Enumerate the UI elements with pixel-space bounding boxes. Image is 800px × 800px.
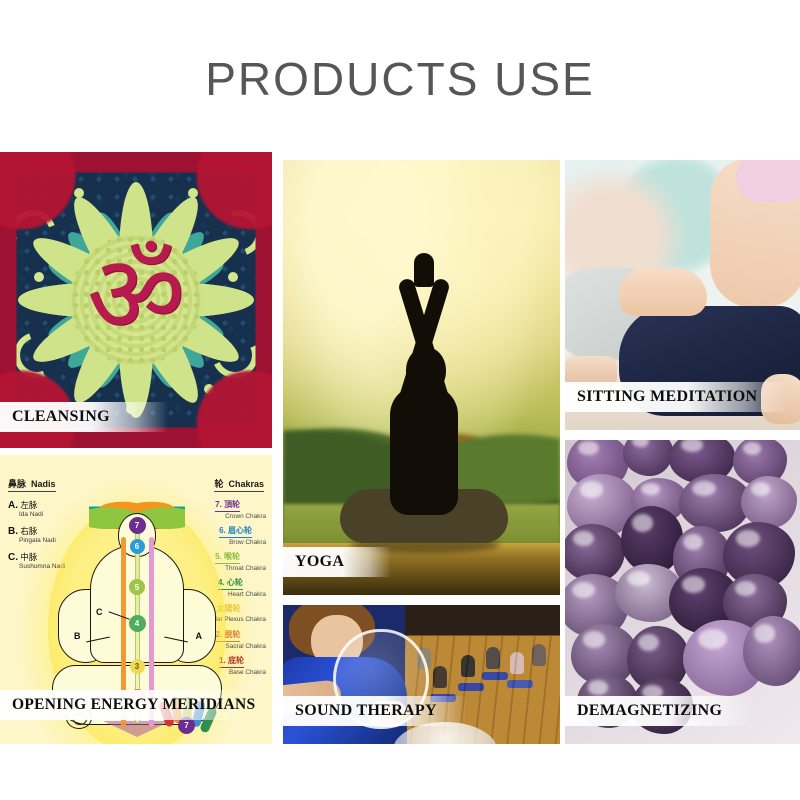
chakra-cn-6: 眉心轮 bbox=[228, 526, 252, 535]
nadi-key-b: B. bbox=[8, 526, 18, 537]
amethyst-stone-icon bbox=[743, 616, 800, 686]
chakra-cn-5: 喉轮 bbox=[224, 552, 240, 561]
nadi-key-a: A. bbox=[8, 500, 18, 511]
card-label-yoga: YOGA bbox=[283, 547, 391, 577]
card-label-sitting-meditation: SITTING MEDITATION bbox=[565, 382, 790, 412]
product-use-card-demagnetizing[interactable]: DEMAGNETIZING bbox=[565, 440, 800, 744]
marker-b: B bbox=[74, 631, 81, 641]
nadi-cn-a: 左脉 bbox=[20, 500, 37, 510]
chakra-node-3: 3 bbox=[130, 659, 145, 674]
chakra-en-2: Sacral Chakra bbox=[226, 643, 267, 650]
chakra-cn-1: 底轮 bbox=[228, 656, 244, 665]
nadi-cn-c: 中脉 bbox=[20, 552, 37, 562]
yoga-illustration bbox=[283, 160, 560, 595]
nadi-en-a: Ida Nadi bbox=[19, 511, 43, 518]
page-title: PRODUCTS USE bbox=[0, 52, 800, 106]
product-use-card-yoga[interactable]: YOGA bbox=[283, 160, 560, 595]
marker-a: A bbox=[196, 631, 203, 641]
chakra-en-7: Crown Chakra bbox=[225, 513, 266, 520]
nadi-cn-b: 右脉 bbox=[20, 526, 37, 536]
chakra-en-4: Heart Chakra bbox=[228, 591, 266, 598]
nadi-en-b: Pingala Nadi bbox=[19, 537, 56, 544]
chakra-en-6: Brow Chakra bbox=[229, 539, 266, 546]
chakra-cn-7: 頂轮 bbox=[224, 500, 240, 509]
mudra-hand-icon bbox=[619, 268, 707, 316]
card-label-cleansing: CLEANSING bbox=[0, 402, 168, 432]
chakras-header-cn: 轮 bbox=[214, 479, 223, 489]
card-label-sound-therapy: SOUND THERAPY bbox=[283, 696, 467, 726]
product-use-card-sound-therapy[interactable]: SOUND THERAPY bbox=[283, 605, 560, 744]
chakra-node-6: 6 bbox=[130, 539, 145, 554]
chakra-num-6: 6. bbox=[219, 526, 226, 535]
chakras-header: Chakras bbox=[228, 479, 264, 489]
card-label-demagnetizing: DEMAGNETIZING bbox=[565, 696, 755, 726]
chakra-en-1: Base Chakra bbox=[229, 669, 266, 676]
chakra-cn-2: 脱轮 bbox=[224, 630, 240, 639]
product-use-card-opening-energy-meridians[interactable]: 鼻脉 Nadis A. 左脉 Ida Nadi B. 右脉 Pingala Na… bbox=[0, 455, 272, 744]
chakra-en-5: Throat Chakra bbox=[225, 565, 266, 572]
nadis-header: Nadis bbox=[31, 479, 56, 489]
marker-c: C bbox=[96, 607, 103, 617]
nadis-header-cn: 鼻脉 bbox=[8, 479, 26, 489]
product-use-card-sitting-meditation[interactable]: SITTING MEDITATION bbox=[565, 160, 800, 430]
chakra-node-7: 7 bbox=[129, 517, 146, 534]
chakra-cn-4: 心轮 bbox=[227, 578, 243, 587]
chakra-node-5: 5 bbox=[129, 579, 145, 595]
meditating-silhouette-icon bbox=[334, 243, 514, 543]
nadi-key-c: C. bbox=[8, 552, 18, 563]
amethyst-stone-icon bbox=[741, 476, 797, 528]
card-label-opening-energy-meridians: OPENING ENERGY MERIDIANS bbox=[0, 690, 252, 720]
product-use-card-cleansing[interactable]: ॐ CLEANSING bbox=[0, 152, 272, 448]
chakra-node-4: 4 bbox=[129, 615, 146, 632]
